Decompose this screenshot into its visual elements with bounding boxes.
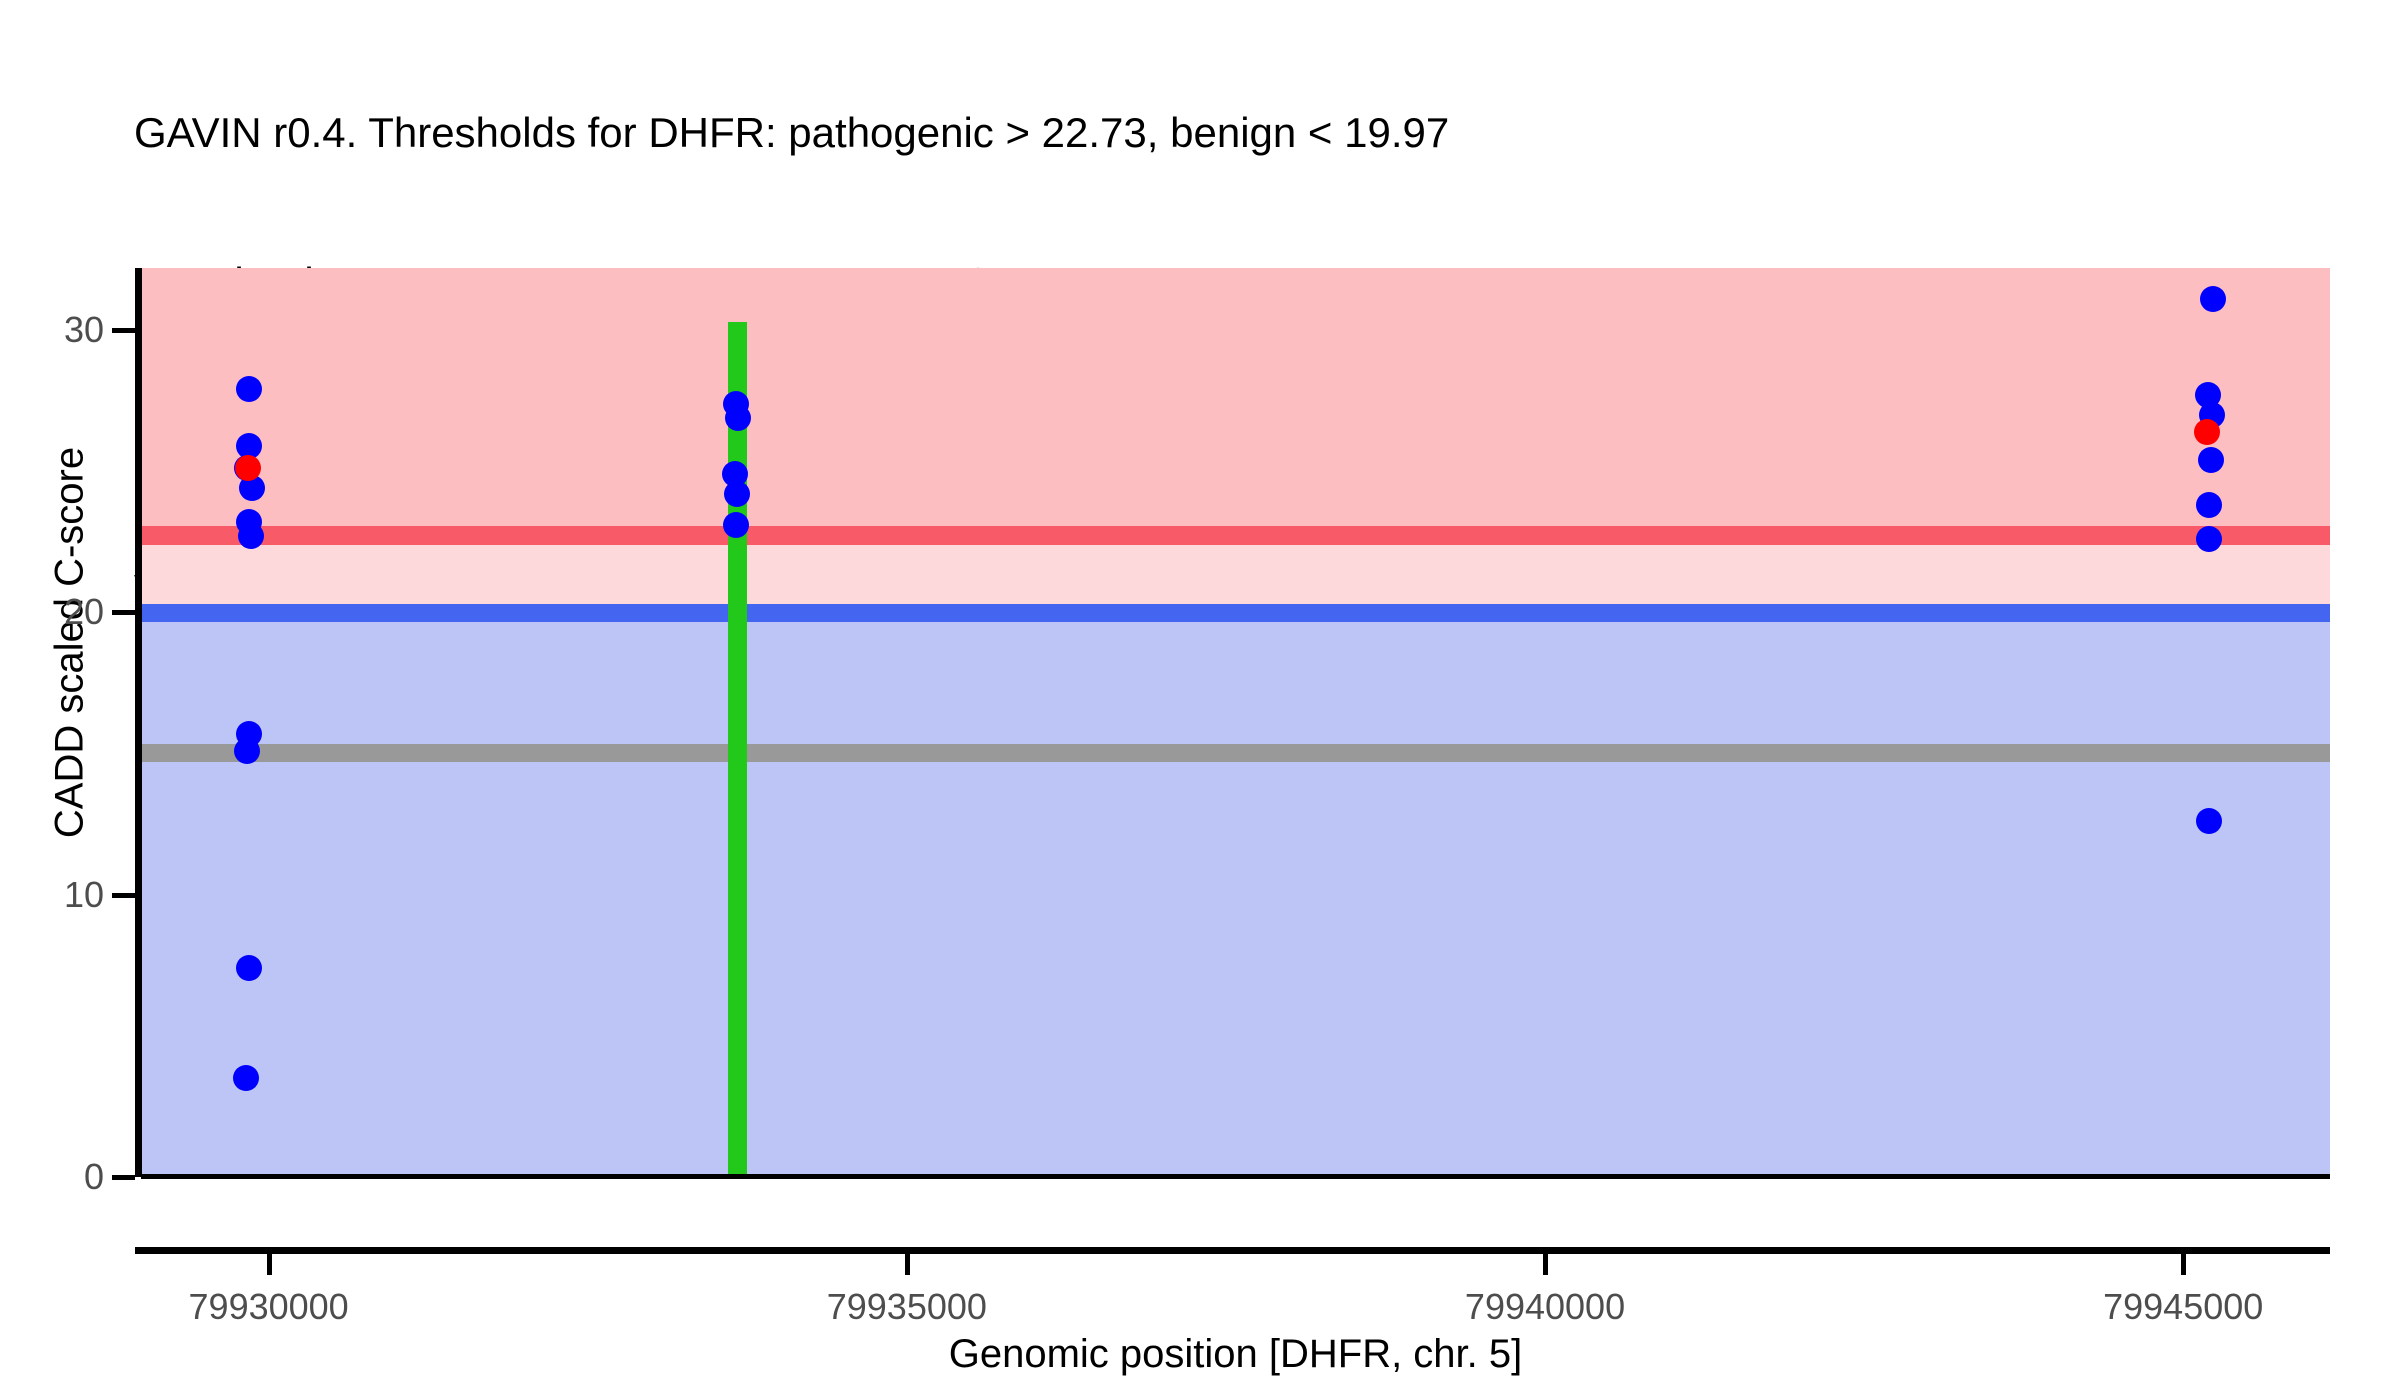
gnomad-point <box>236 955 262 981</box>
y-axis-line <box>135 268 142 1177</box>
band-pathogenic <box>141 268 2330 535</box>
y-tick-label: 10 <box>4 874 104 916</box>
y-tick-10 <box>112 893 135 898</box>
gnomad-point <box>2196 808 2222 834</box>
x-tick-79945000 <box>2181 1254 2186 1275</box>
gnomad-point <box>2200 286 2226 312</box>
y-tick-20 <box>112 610 135 615</box>
clinvar-point <box>2194 419 2220 445</box>
band-benign-threshold-line <box>141 604 2330 622</box>
title-line-1: GAVIN r0.4. Thresholds for DHFR: pathoge… <box>134 108 2234 158</box>
plot-panel <box>141 268 2330 1177</box>
y-tick-0 <box>112 1175 135 1180</box>
refseq-exon-bar <box>728 322 747 1177</box>
band-genome-wide-fallback-line <box>141 744 2330 762</box>
gnomad-point <box>725 405 751 431</box>
x-tick-79940000 <box>1543 1254 1548 1275</box>
x-tick-label: 79930000 <box>69 1286 469 1328</box>
panel-bottom-rule <box>141 1174 2330 1179</box>
x-tick-79935000 <box>905 1254 910 1275</box>
y-tick-30 <box>112 328 135 333</box>
x-tick-79930000 <box>267 1254 272 1275</box>
gnomad-point <box>234 738 260 764</box>
x-axis-title: Genomic position [DHFR, chr. 5] <box>141 1332 2330 1377</box>
x-tick-label: 79945000 <box>1983 1286 2383 1328</box>
band-benign <box>141 622 2330 1177</box>
x-axis-line <box>135 1247 2330 1254</box>
band-pathogenic-threshold-line <box>141 526 2330 544</box>
y-tick-label: 20 <box>4 591 104 633</box>
y-tick-label: 30 <box>4 309 104 351</box>
y-axis-title: CADD scaled C-score <box>48 243 93 1043</box>
plot-root: GAVIN r0.4. Thresholds for DHFR: pathoge… <box>0 0 2400 1350</box>
y-tick-label: 0 <box>4 1156 104 1198</box>
x-tick-label: 79935000 <box>707 1286 1107 1328</box>
gnomad-point <box>724 481 750 507</box>
x-tick-label: 79940000 <box>1345 1286 1745 1328</box>
clinvar-point <box>235 455 261 481</box>
